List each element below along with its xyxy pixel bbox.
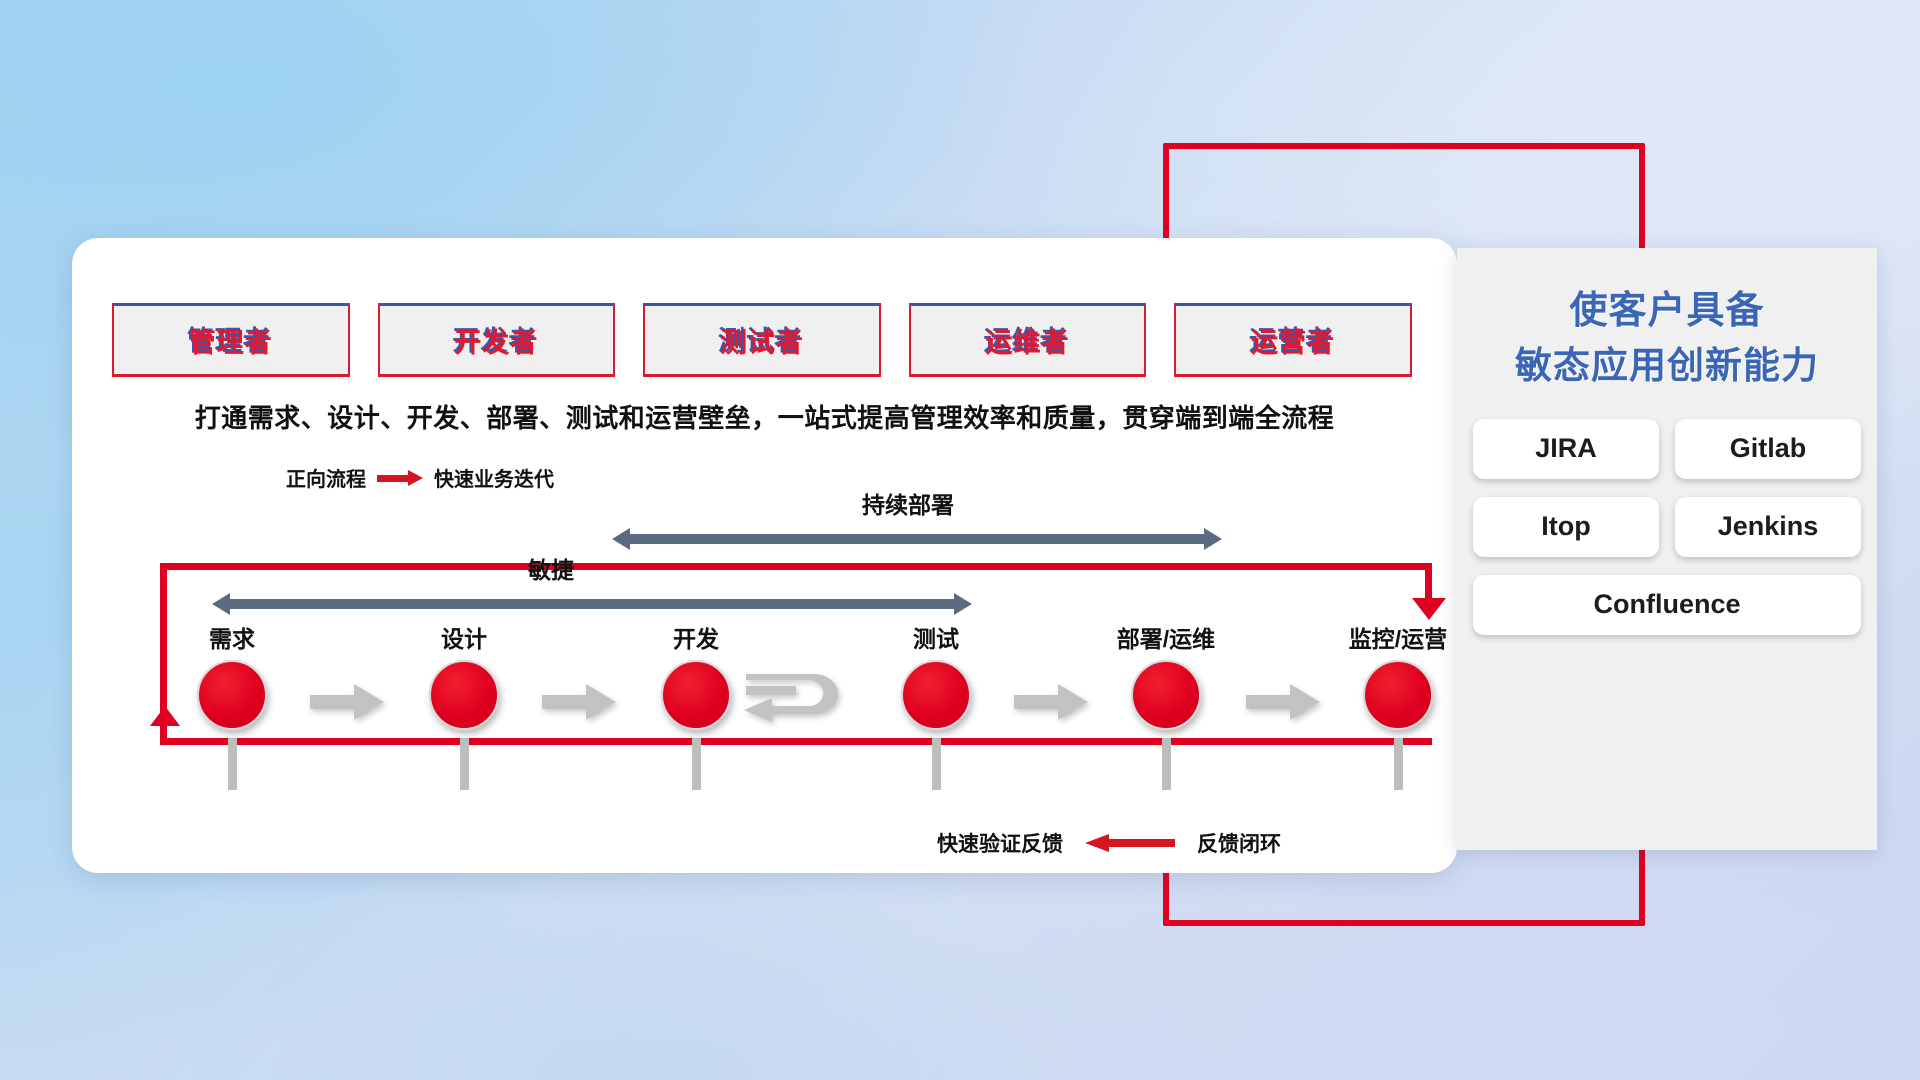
arrow-right-gray-icon (310, 682, 384, 722)
role-box-manager[interactable]: 管理者 (112, 303, 350, 377)
stage-stub (692, 738, 701, 790)
stage-label: 开发 (621, 620, 771, 654)
forward-flow-left-label: 正向流程 (286, 463, 366, 492)
forward-flow-right-label: 快速业务迭代 (434, 463, 554, 492)
tool-chip-gitlab[interactable]: Gitlab (1675, 419, 1861, 479)
stage-stub (460, 738, 469, 790)
stage-dot (429, 660, 499, 730)
stage-dot (197, 660, 267, 730)
role-box-tester[interactable]: 测试者 (643, 303, 881, 377)
role-label: 运营者 (1251, 321, 1335, 360)
role-label: 开发者 (454, 321, 538, 360)
role-label: 运维者 (986, 321, 1070, 360)
stage-monitor-operations[interactable]: 监控/运营 (1323, 620, 1473, 730)
loop-back-arrow-gray-icon (742, 672, 852, 734)
tool-chip-jenkins[interactable]: Jenkins (1675, 497, 1861, 557)
stage-label: 部署/运维 (1091, 620, 1241, 654)
stage-dot (901, 660, 971, 730)
tool-chip-itop[interactable]: Itop (1473, 497, 1659, 557)
stage-dot (1131, 660, 1201, 730)
stage-label: 需求 (157, 620, 307, 654)
arrow-right-gray-icon (1014, 682, 1088, 722)
stage-testing[interactable]: 测试 (861, 620, 1011, 730)
tool-chip-jira[interactable]: JIRA (1473, 419, 1659, 479)
role-label: 管理者 (189, 321, 273, 360)
stage-stub (228, 738, 237, 790)
stage-dot (1363, 660, 1433, 730)
continuous-deployment-label: 持续部署 (862, 486, 954, 520)
arrow-right-gray-icon (542, 682, 616, 722)
stage-label: 测试 (861, 620, 1011, 654)
arrow-down-red-icon (1412, 598, 1446, 620)
stage-deploy-ops[interactable]: 部署/运维 (1091, 620, 1241, 730)
loop-rail-top (160, 563, 1432, 570)
stage-stub (1162, 738, 1171, 790)
agile-double-arrow-icon (212, 593, 972, 615)
tool-chip-group: JIRA Gitlab Itop Jenkins Confluence (1473, 419, 1861, 635)
role-box-ops[interactable]: 运维者 (909, 303, 1147, 377)
arrow-right-gray-icon (1246, 682, 1320, 722)
stage-pipeline: 需求 设计 开发 测试 部署/运维 监控/运营 (132, 620, 1412, 760)
panel-title-line2: 敏态应用创新能力 (1457, 339, 1877, 393)
role-box-operations[interactable]: 运营者 (1174, 303, 1412, 377)
panel-title: 使客户具备 敏态应用创新能力 (1457, 284, 1877, 393)
headline-text: 打通需求、设计、开发、部署、测试和运营壁垒，一站式提高管理效率和质量，贯穿端到端… (72, 398, 1457, 435)
value-panel: 使客户具备 敏态应用创新能力 JIRA Gitlab Itop Jenkins … (1457, 248, 1877, 850)
stage-dot (661, 660, 731, 730)
forward-flow-caption: 正向流程 快速业务迭代 (286, 463, 554, 492)
stage-requirements[interactable]: 需求 (157, 620, 307, 730)
stage-stub (932, 738, 941, 790)
stage-stub (1394, 738, 1403, 790)
feedback-caption: 快速验证反馈 反馈闭环 (937, 828, 1281, 858)
role-label: 测试者 (720, 321, 804, 360)
stage-label: 监控/运营 (1323, 620, 1473, 654)
role-box-group: 管理者 开发者 测试者 运维者 运营者 (112, 303, 1412, 377)
main-diagram-card: 管理者 开发者 测试者 运维者 运营者 打通需求、设计、开发、部署、测试和运营壁… (72, 238, 1457, 873)
panel-title-line1: 使客户具备 (1457, 284, 1877, 339)
tool-chip-confluence[interactable]: Confluence (1473, 575, 1861, 635)
arrow-right-red-icon (377, 470, 423, 486)
arrow-left-red-icon (1085, 834, 1175, 852)
feedback-left-label: 快速验证反馈 (937, 828, 1063, 858)
stage-label: 设计 (389, 620, 539, 654)
agile-label: 敏捷 (528, 551, 574, 585)
role-box-developer[interactable]: 开发者 (378, 303, 616, 377)
loop-rail-right (1425, 563, 1432, 603)
feedback-right-label: 反馈闭环 (1197, 828, 1281, 858)
continuous-deployment-double-arrow-icon (612, 528, 1222, 550)
stage-design[interactable]: 设计 (389, 620, 539, 730)
